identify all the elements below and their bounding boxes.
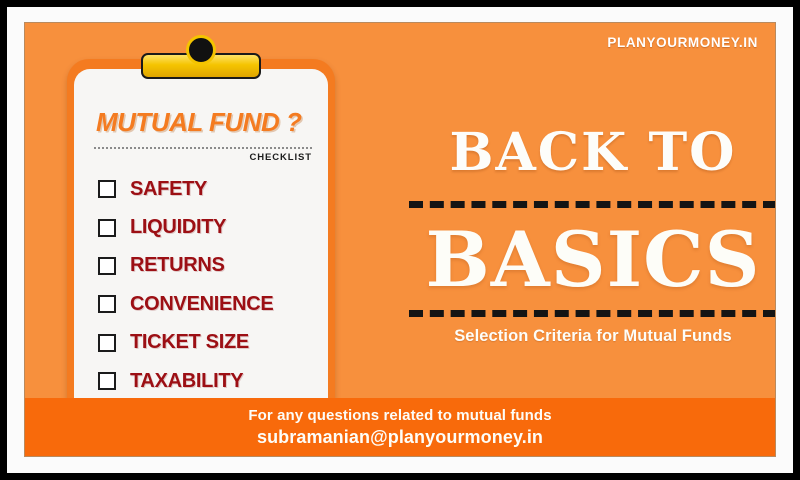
checklist-row[interactable]: RETURNS xyxy=(74,247,328,285)
clipboard: MUTUAL FUND ? CHECKLIST SAFETY LIQUIDITY xyxy=(67,59,335,423)
checkbox-icon[interactable] xyxy=(98,219,116,237)
headline-block: BACK TO BASICS Selection Criteria for Mu… xyxy=(397,127,776,346)
checklist-item-label: TAXABILITY xyxy=(130,370,243,393)
checklist-item-label: TICKET SIZE xyxy=(130,331,249,354)
checklist-title: MUTUAL FUND ? xyxy=(96,107,301,138)
clipboard-paper: MUTUAL FUND ? CHECKLIST SAFETY LIQUIDITY xyxy=(74,69,328,416)
checklist-row[interactable]: SAFETY xyxy=(74,170,328,208)
checklist-row[interactable]: TAXABILITY xyxy=(74,362,328,400)
poster-white-mat: PLANYOURMONEY.IN MUTUAL FUND ? CHECKLIST… xyxy=(7,7,793,473)
brand-watermark-top: PLANYOURMONEY.IN xyxy=(607,35,758,50)
checklist-row[interactable]: CONVENIENCE xyxy=(74,285,328,323)
contact-email[interactable]: subramanian@planyourmoney.in xyxy=(257,427,543,448)
checkbox-icon[interactable] xyxy=(98,334,116,352)
checklist-item-label: CONVENIENCE xyxy=(130,293,273,316)
checkbox-icon[interactable] xyxy=(98,257,116,275)
headline-line-2: BASICS xyxy=(397,224,776,296)
checklist-item-label: LIQUIDITY xyxy=(130,216,226,239)
dashed-divider-top xyxy=(409,201,776,208)
poster-outer-frame: PLANYOURMONEY.IN MUTUAL FUND ? CHECKLIST… xyxy=(0,0,800,480)
checklist-row[interactable]: LIQUIDITY xyxy=(74,208,328,246)
headline-tagline: Selection Criteria for Mutual Funds xyxy=(397,327,776,346)
checkbox-icon[interactable] xyxy=(98,295,116,313)
checklist-row[interactable]: TICKET SIZE xyxy=(74,324,328,362)
dotted-divider xyxy=(94,147,312,149)
poster-canvas: PLANYOURMONEY.IN MUTUAL FUND ? CHECKLIST… xyxy=(24,22,776,457)
checkbox-icon[interactable] xyxy=(98,180,116,198)
checklist-item-label: RETURNS xyxy=(130,254,225,277)
checklist-item-label: SAFETY xyxy=(130,178,207,201)
headline-line-1: BACK TO xyxy=(397,127,776,179)
contact-prompt: For any questions related to mutual fund… xyxy=(248,407,551,424)
checklist-subtitle: CHECKLIST xyxy=(250,152,312,163)
dashed-divider-bottom xyxy=(409,310,776,317)
clipboard-clip-knob-icon xyxy=(186,35,216,65)
contact-bar: For any questions related to mutual fund… xyxy=(25,398,775,456)
checkbox-icon[interactable] xyxy=(98,372,116,390)
